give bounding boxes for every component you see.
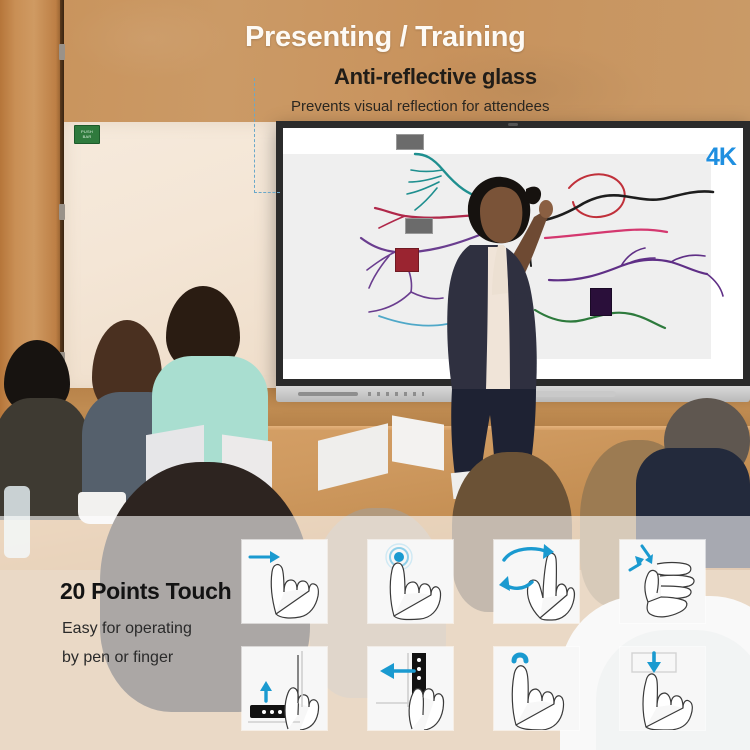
gesture-tile-tap[interactable]	[368, 540, 453, 623]
callout-leader-line	[254, 78, 280, 193]
door-hinge-top	[59, 44, 65, 60]
feature-title: Anti-reflective glass	[334, 64, 537, 90]
product-banner: PUSHBAR	[0, 0, 750, 750]
presenter-person	[440, 175, 570, 485]
touch-line-1: Easy for operating	[62, 620, 192, 638]
gesture-tile-rotate[interactable]	[494, 540, 579, 623]
mindmap-thumbnail-3	[395, 248, 419, 272]
laptop	[392, 415, 444, 470]
touch-headline: 20 Points Touch	[60, 578, 231, 605]
page-title: Presenting / Training	[245, 21, 526, 54]
exit-sign-icon: PUSHBAR	[74, 125, 100, 144]
resolution-badge: 4K	[706, 143, 736, 172]
gesture-tile-press-and-hold[interactable]	[494, 647, 579, 730]
panel-camera-icon	[508, 123, 518, 126]
gesture-tile-swipe-right[interactable]	[242, 540, 327, 623]
gesture-tile-swipe-up-from-edge[interactable]	[242, 647, 327, 730]
feature-description: Prevents visual reflection for attendees	[291, 98, 549, 115]
touch-line-2: by pen or finger	[62, 649, 173, 667]
door-hinge-middle	[59, 204, 65, 220]
gesture-tile-swipe-left-edge[interactable]	[368, 647, 453, 730]
gesture-tile-pull-down[interactable]	[620, 647, 705, 730]
mindmap-thumbnail-4	[590, 288, 612, 316]
mindmap-thumbnail-2	[405, 218, 433, 234]
mindmap-thumbnail-1	[396, 134, 424, 150]
exit-sign-text: PUSHBAR	[81, 130, 93, 139]
gesture-tile-pinch-in[interactable]	[620, 540, 705, 623]
